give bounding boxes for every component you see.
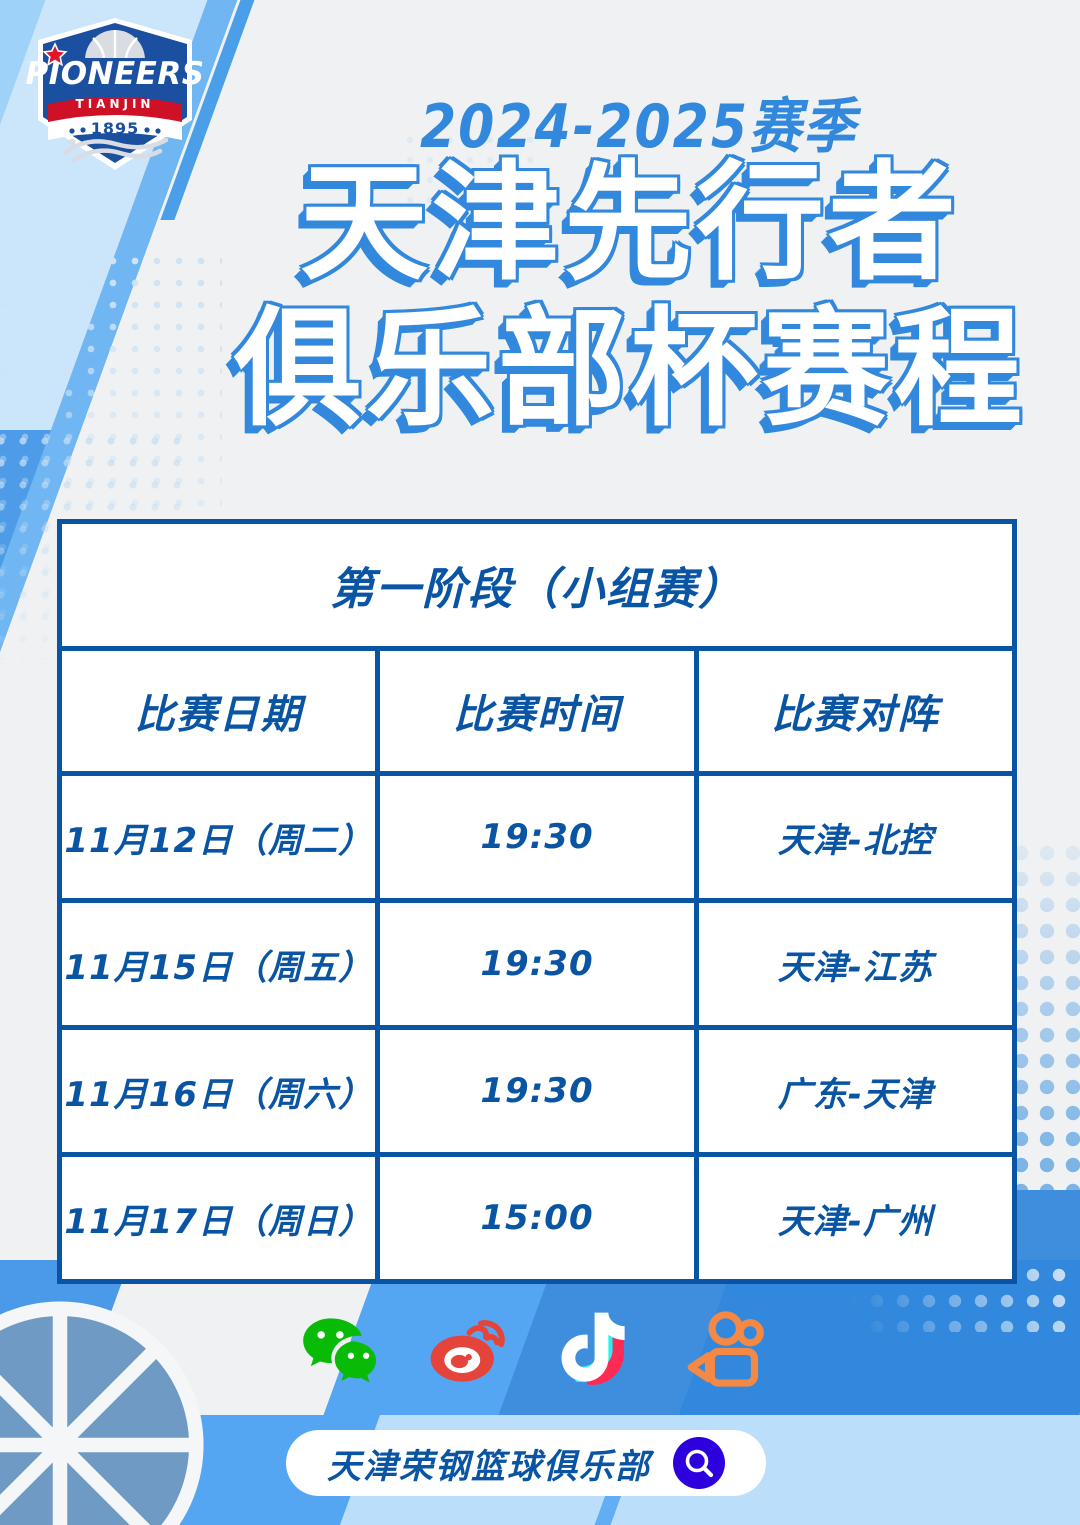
douyin-icon[interactable] [548,1304,640,1396]
weibo-icon[interactable] [422,1304,514,1396]
social-links-row [296,1300,766,1400]
table-row: 11月12日（周二） 19:30 天津-北控 [60,774,1015,901]
cell-match: 天津-北控 [696,774,1014,901]
logo-city: TIANJIN [76,97,155,111]
table-row-phase: 第一阶段（小组赛） [60,522,1015,649]
cell-time: 19:30 [378,901,696,1028]
cell-match: 天津-江苏 [696,901,1014,1028]
cell-time: 19:30 [378,774,696,901]
logo-year: 1895 [91,119,140,138]
basketball-watermark-icon [0,1300,205,1525]
cell-time: 15:00 [378,1155,696,1282]
cell-date: 11月15日（周五） [60,901,378,1028]
cell-date: 11月12日（周二） [60,774,378,901]
club-logo-pioneers-tianjin: PIONEERS TIANJIN 1895 [8,12,223,177]
column-header-match: 比赛对阵 [696,649,1014,774]
table-row: 11月16日（周六） 19:30 广东-天津 [60,1028,1015,1155]
poster-root: PIONEERS TIANJIN 1895 2024-2025赛季 天津先行者 … [0,0,1080,1525]
cell-match: 天津-广州 [696,1155,1014,1282]
search-icon[interactable] [673,1437,725,1489]
bg-dots-right [1008,840,1080,1260]
cell-date: 11月16日（周六） [60,1028,378,1155]
footer-club-name: 天津荣钢篮球俱乐部 [327,1439,651,1488]
table-row: 11月15日（周五） 19:30 天津-江苏 [60,901,1015,1028]
page-title-line-2: 俱乐部杯赛程 [215,306,1045,434]
column-header-date: 比赛日期 [60,649,378,774]
wechat-icon[interactable] [296,1304,388,1396]
cell-match: 广东-天津 [696,1028,1014,1155]
schedule-table: 第一阶段（小组赛） 比赛日期 比赛时间 比赛对阵 11月12日（周二） 19:3… [57,519,1017,1284]
table-row-header: 比赛日期 比赛时间 比赛对阵 [60,649,1015,774]
page-title: 天津先行者 俱乐部杯赛程 [215,160,1045,434]
cell-date: 11月17日（周日） [60,1155,378,1282]
column-header-time: 比赛时间 [378,649,696,774]
cell-time: 19:30 [378,1028,696,1155]
table-row: 11月17日（周日） 15:00 天津-广州 [60,1155,1015,1282]
page-title-line-1: 天津先行者 [215,160,1045,288]
footer-club-bar[interactable]: 天津荣钢篮球俱乐部 [286,1430,766,1496]
bg-stripe-bottom-6 [0,1415,170,1525]
kuaishou-icon[interactable] [674,1304,766,1396]
phase-title-cell: 第一阶段（小组赛） [60,522,1015,649]
